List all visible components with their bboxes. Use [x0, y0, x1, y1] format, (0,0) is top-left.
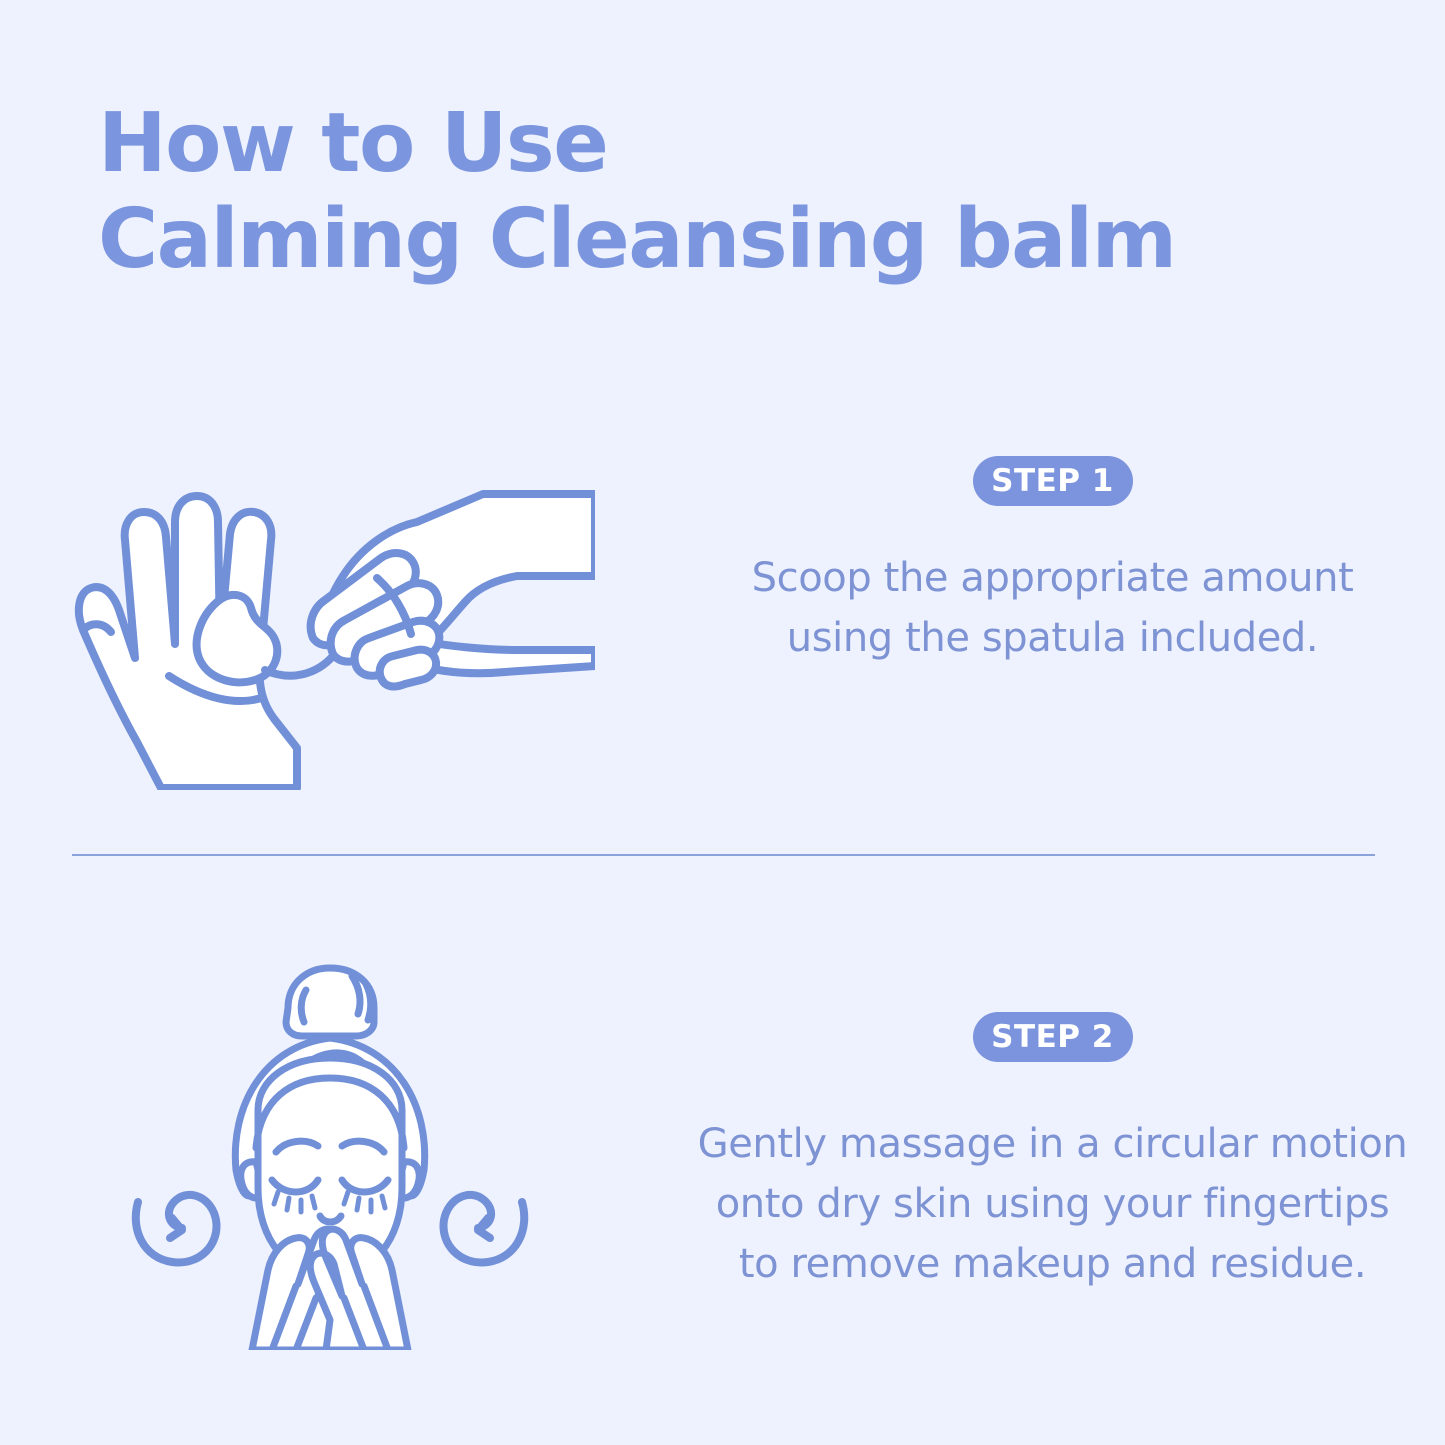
right-lash-4 — [382, 1196, 385, 1208]
step-2-text-cell: STEP 2 Gently massage in a circular moti… — [660, 940, 1445, 1294]
section-divider — [72, 854, 1375, 856]
step-2-badge: STEP 2 — [973, 1012, 1133, 1062]
step-1-text-cell: STEP 1 Scoop the appropriate amount usin… — [660, 430, 1445, 668]
right-lash-2 — [357, 1198, 359, 1210]
left-lash-2 — [287, 1198, 289, 1210]
page-title: How to Use Calming Cleansing balm — [98, 96, 1198, 288]
step-2-row: STEP 2 Gently massage in a circular moti… — [0, 940, 1445, 1360]
left-lash-4 — [312, 1196, 315, 1208]
step-1-row: STEP 1 Scoop the appropriate amount usin… — [0, 430, 1445, 820]
hand-scooping-balm-icon — [65, 430, 595, 790]
step-1-badge: STEP 1 — [973, 456, 1133, 506]
title-line-2: Calming Cleansing balm — [98, 192, 1198, 288]
right-hand-pinky-finger — [380, 650, 436, 687]
step-2-illustration-cell — [0, 940, 660, 1350]
step-2-description: Gently massage in a circular motion onto… — [698, 1114, 1408, 1294]
title-line-1: How to Use — [98, 96, 1198, 192]
step-1-description: Scoop the appropriate amount using the s… — [752, 548, 1354, 668]
step-1-illustration-cell — [0, 430, 660, 790]
how-to-use-infographic: How to Use Calming Cleansing balm — [0, 0, 1445, 1445]
woman-massaging-face-icon — [120, 940, 540, 1350]
